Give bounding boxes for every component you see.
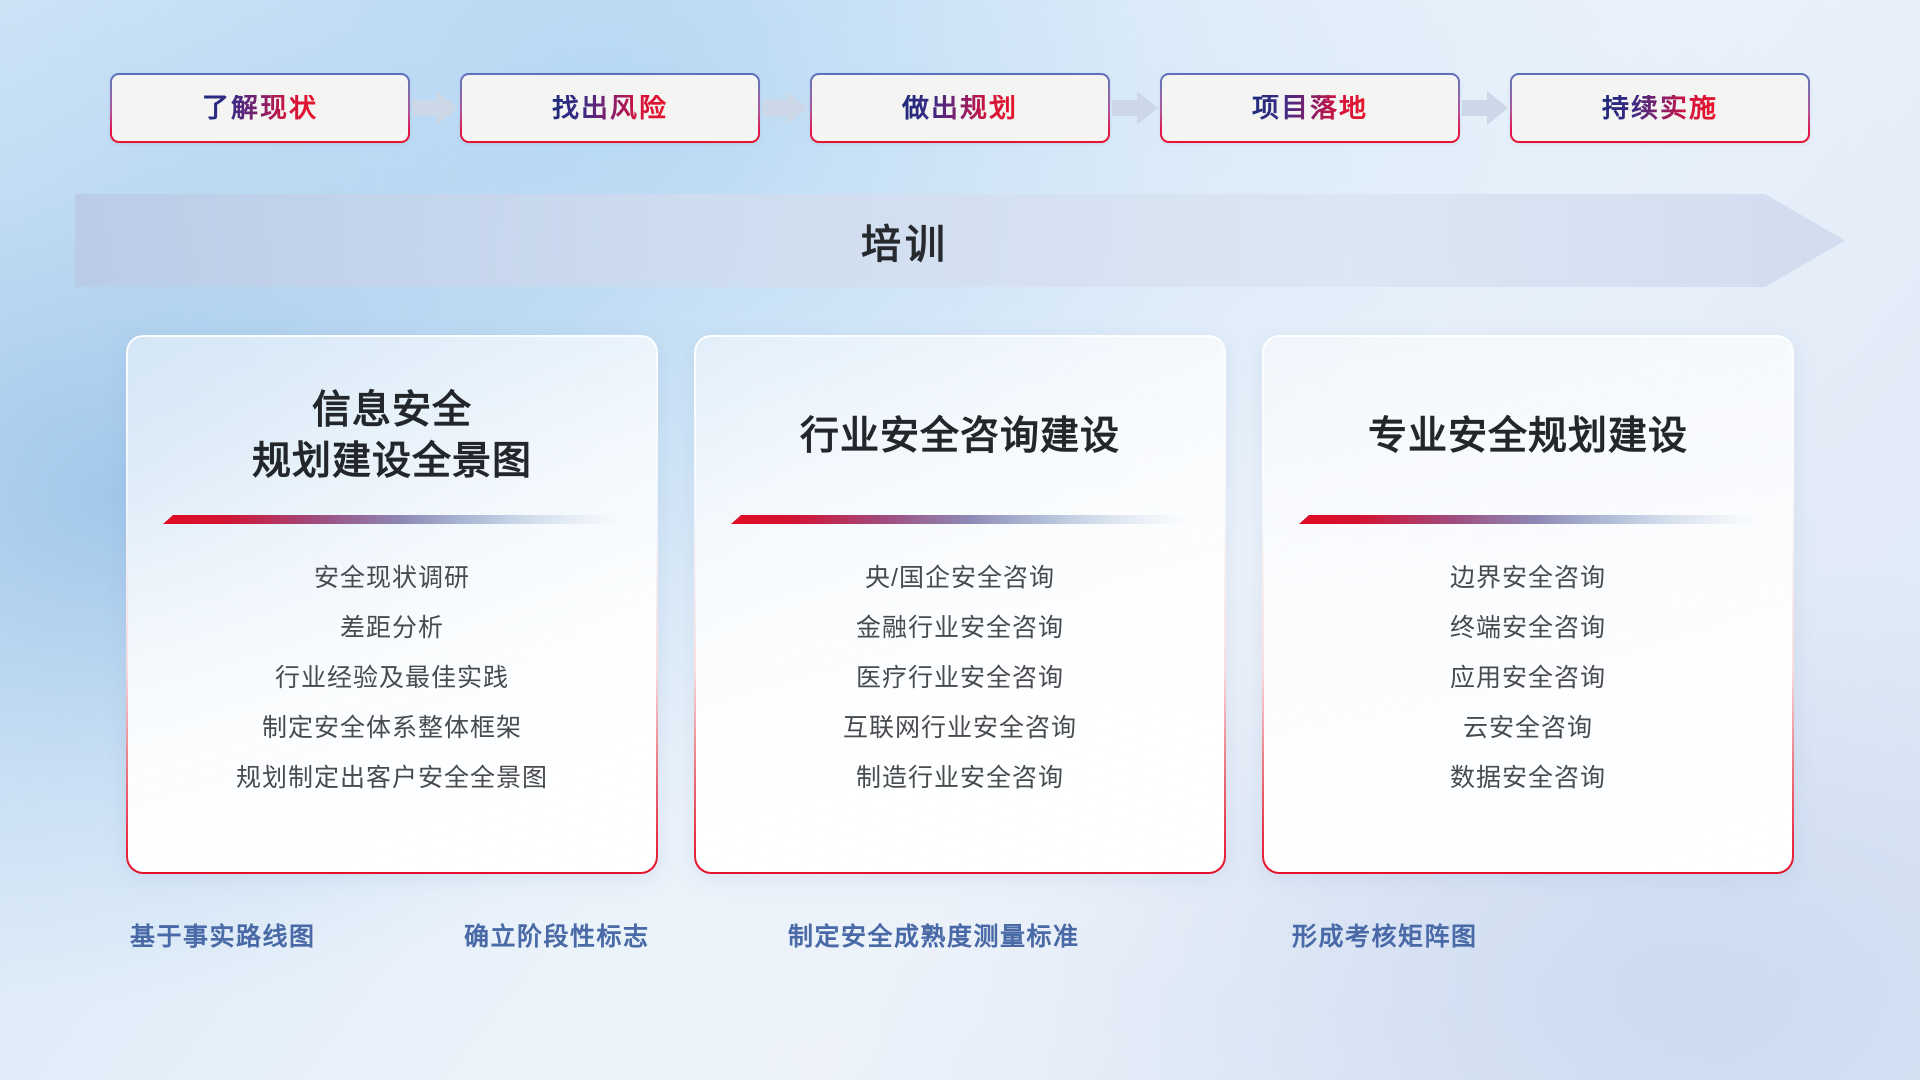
card-item-list: 央/国企安全咨询 金融行业安全咨询 医疗行业安全咨询 互联网行业安全咨询 制造行… [726, 554, 1194, 804]
list-item: 云安全咨询 [1463, 704, 1593, 754]
list-item: 医疗行业安全咨询 [856, 654, 1064, 704]
arrow-right-icon [1110, 72, 1160, 144]
list-item: 规划制定出客户安全全景图 [236, 754, 548, 804]
arrow-right-icon [1460, 72, 1510, 144]
process-step-label: 找出风险 [552, 95, 668, 122]
list-item: 金融行业安全咨询 [856, 604, 1064, 654]
card-title: 专业安全规划建设 [1368, 385, 1688, 489]
training-banner: 培训 [75, 194, 1845, 287]
process-step-3[interactable]: 做出规划 [810, 73, 1110, 143]
process-step-label: 做出规划 [902, 95, 1018, 122]
card-title-line: 行业安全咨询建设 [800, 412, 1120, 463]
process-step-label: 了解现状 [202, 95, 318, 122]
bottom-label-1: 基于事实路线图 [130, 905, 316, 965]
list-item: 应用安全咨询 [1450, 654, 1606, 704]
card-title-line: 规划建设全景图 [252, 437, 532, 488]
card-title: 行业安全咨询建设 [800, 385, 1120, 489]
list-item: 数据安全咨询 [1450, 754, 1606, 804]
list-item: 终端安全咨询 [1450, 604, 1606, 654]
list-item: 制造行业安全咨询 [856, 754, 1064, 804]
card-item-list: 边界安全咨询 终端安全咨询 应用安全咨询 云安全咨询 数据安全咨询 [1294, 554, 1762, 804]
arrow-right-icon [410, 72, 460, 144]
process-step-label: 持续实施 [1602, 95, 1718, 122]
process-step-5[interactable]: 持续实施 [1510, 73, 1810, 143]
bottom-label-3: 制定安全成熟度测量标准 [788, 905, 1080, 965]
list-item: 行业经验及最佳实践 [275, 654, 509, 704]
process-steps-row: 了解现状 找出风险 做出规划 项目落地 持续实施 [0, 72, 1920, 144]
gradient-divider [731, 515, 1189, 526]
card-title-line: 专业安全规划建设 [1368, 412, 1688, 463]
bottom-label-2: 确立阶段性标志 [464, 905, 650, 965]
process-step-2[interactable]: 找出风险 [460, 73, 760, 143]
list-item: 差距分析 [340, 604, 444, 654]
gradient-divider [163, 515, 621, 526]
process-step-1[interactable]: 了解现状 [110, 73, 410, 143]
bottom-label-4: 形成考核矩阵图 [1292, 905, 1478, 965]
list-item: 央/国企安全咨询 [865, 554, 1055, 604]
card-information-security-panorama[interactable]: 信息安全 规划建设全景图 安 [127, 336, 657, 873]
card-item-list: 安全现状调研 差距分析 行业经验及最佳实践 制定安全体系整体框架 规划制定出客户… [158, 554, 626, 804]
list-item: 边界安全咨询 [1450, 554, 1606, 604]
card-title: 信息安全 规划建设全景图 [252, 385, 532, 489]
card-professional-security-planning[interactable]: 专业安全规划建设 边界安全咨询 [1263, 336, 1793, 873]
card-industry-security-consulting[interactable]: 行业安全咨询建设 央/国企安全咨询 [695, 336, 1225, 873]
arrow-right-icon [760, 72, 810, 144]
card-title-line: 信息安全 [252, 386, 532, 437]
process-step-4[interactable]: 项目落地 [1160, 73, 1460, 143]
banner-title: 培训 [75, 194, 1735, 287]
list-item: 互联网行业安全咨询 [843, 704, 1077, 754]
process-step-label: 项目落地 [1252, 95, 1368, 122]
list-item: 安全现状调研 [314, 554, 470, 604]
gradient-divider [1299, 515, 1757, 526]
bottom-labels-row: 基于事实路线图 确立阶段性标志 制定安全成熟度测量标准 形成考核矩阵图 [0, 905, 1920, 965]
list-item: 制定安全体系整体框架 [262, 704, 522, 754]
cards-row: 信息安全 规划建设全景图 安 [0, 336, 1920, 876]
